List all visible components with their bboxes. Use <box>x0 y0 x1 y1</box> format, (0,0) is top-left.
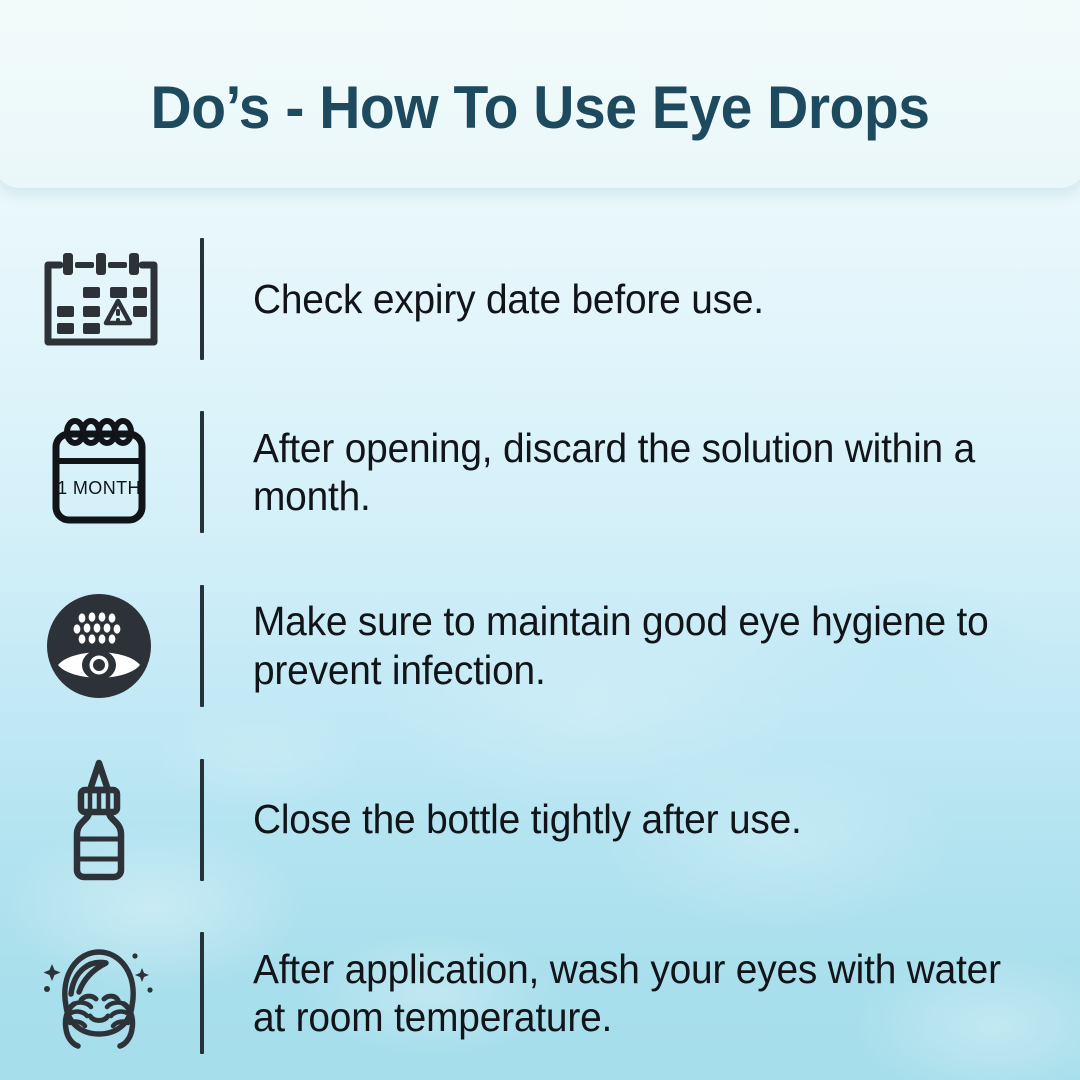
list-item-text: Make sure to maintain good eye hygiene t… <box>204 597 1016 694</box>
calendar-expiry-warning-icon <box>24 240 174 358</box>
tips-list: Check expiry date before use. 1 MONTH <box>0 212 1080 1080</box>
page-title: Do’s - How To Use Eye Drops <box>151 73 930 142</box>
face-wash-icon <box>24 934 174 1052</box>
calendar-one-month-icon: 1 MONTH <box>24 413 174 531</box>
list-item-text: After application, wash your eyes with w… <box>204 945 1016 1042</box>
list-item-text: After opening, discard the solution with… <box>204 424 1016 521</box>
list-item: Check expiry date before use. <box>0 212 1080 386</box>
list-item: 1 MONTH After opening, discard the solut… <box>0 386 1080 560</box>
eye-hygiene-icon <box>24 587 174 705</box>
list-item-text: Check expiry date before use. <box>204 275 1016 324</box>
list-item: Close the bottle tightly after use. <box>0 733 1080 907</box>
header-card: Do’s - How To Use Eye Drops <box>0 0 1080 188</box>
list-item: After application, wash your eyes with w… <box>0 906 1080 1080</box>
eye-drops-dos-infographic: Do’s - How To Use Eye Drops <box>0 0 1080 1080</box>
calendar-icon-label: 1 MONTH <box>57 478 141 498</box>
list-item: Make sure to maintain good eye hygiene t… <box>0 559 1080 733</box>
list-item-text: Close the bottle tightly after use. <box>204 795 1016 844</box>
eye-drop-bottle-icon <box>24 761 174 879</box>
